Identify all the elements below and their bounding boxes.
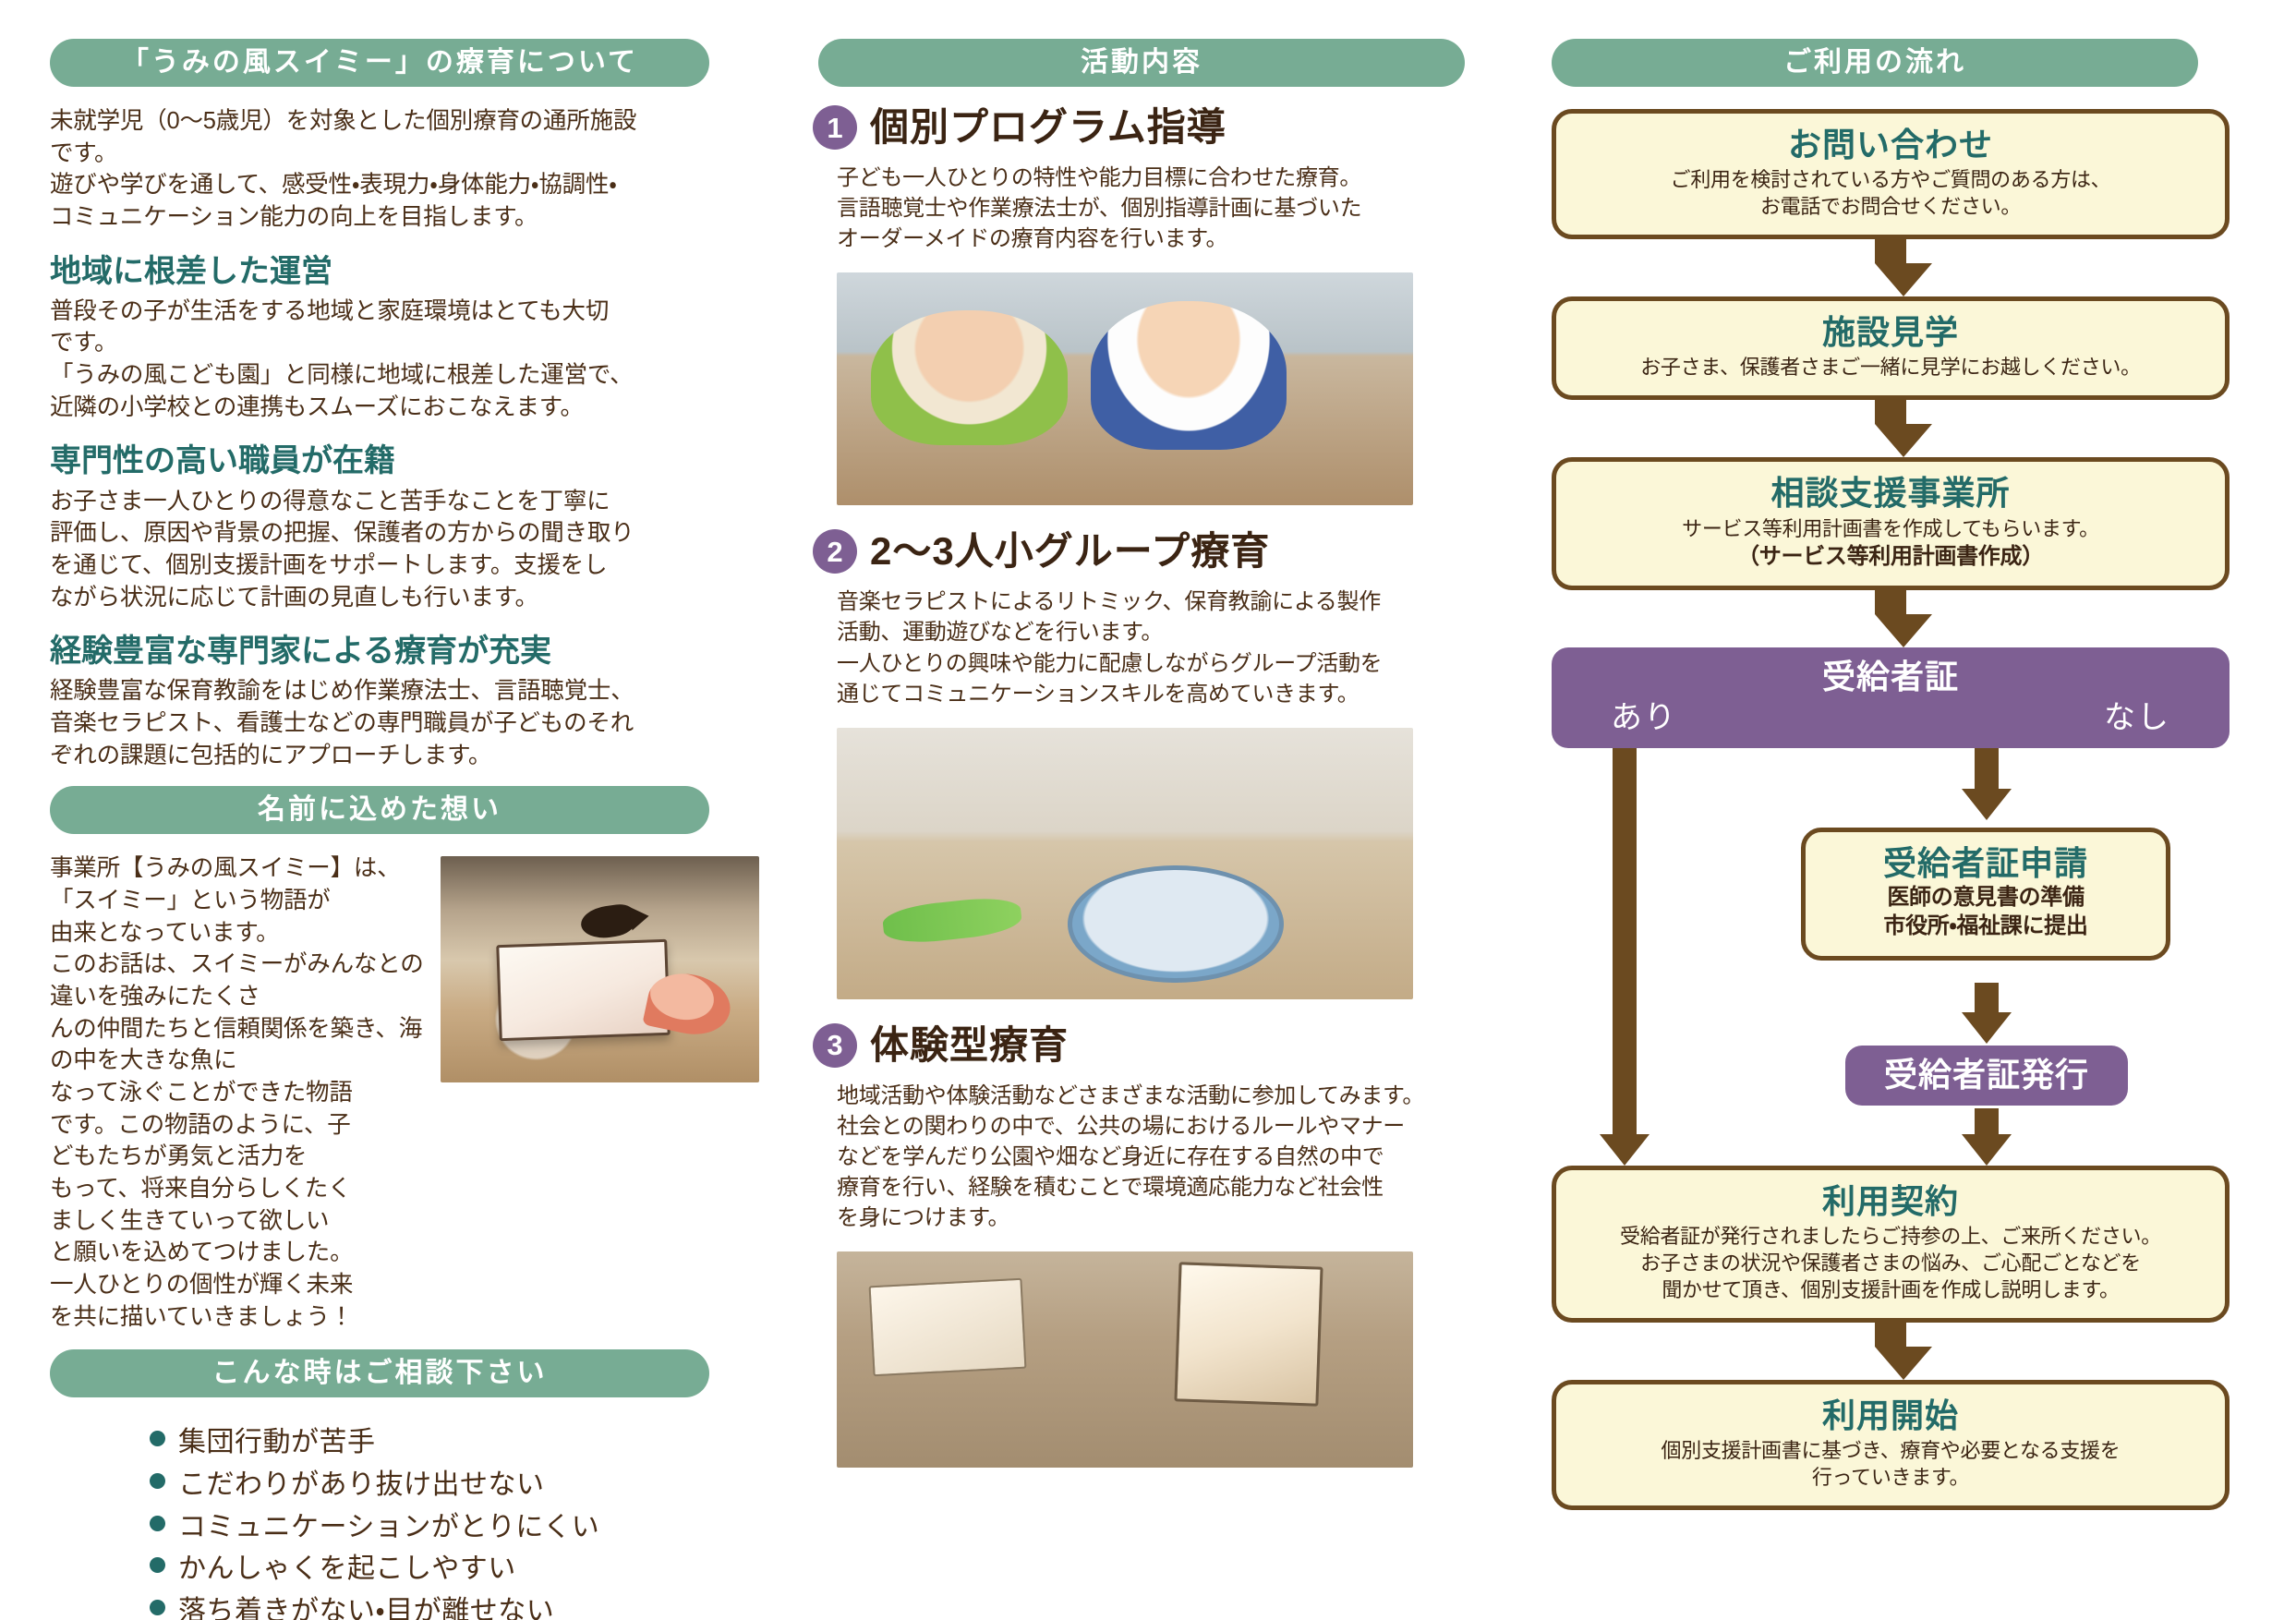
activity-title-2: 2〜3人小グループ療育 [870,531,1270,572]
body-line: 子ども一人ひとりの特性や能力目標に合わせた療育。 [837,163,1504,193]
story-line: と願いを込めてつけました。 [50,1237,759,1269]
activity-heading-3: 3 体験型療育 [813,1023,1504,1068]
body-line: お子さま、保護者さまご一緒に見学にお越しください。 [1575,354,2206,381]
body-line: 近隣の小学校との連携もスムーズにおこなえます。 [50,392,759,424]
flow-node-body: 受給者証が発行されましたらご持参の上、ご来所ください。 お子さまの状況や保護者さ… [1575,1223,2206,1303]
flow-node-body-strong: （サービス等利用計画書作成） [1575,542,2206,572]
flow-rail-issue-to-contract [1975,1108,1999,1134]
about-intro-text: 未就学児（0〜5歳児）を対象とした個別療育の通所施設 です。 遊びや学びを通して… [50,105,759,234]
activity-number-badge-3: 3 [813,1023,857,1068]
photo-rule-cards-on-desk [837,1251,1413,1468]
about-intro-line: 遊びや学びを通して、感受性・表現力・身体能力・協調性・ [50,169,759,201]
activity-body-3: 地域活動や体験活動などさまざまな活動に参加してみます。 社会との関わりの中で、公… [813,1081,1504,1234]
flow-node-inquiry: お問い合わせ ご利用を検討されている方やご質問のある方は、 お電話でお問合せくだ… [1552,109,2230,239]
body-line: お電話でお問合せください。 [1575,193,2206,220]
bullet-dot-icon [150,1557,165,1573]
about-intro-line: コミュニケーション能力の向上を目指します。 [50,201,759,234]
list-item-label: こだわりがあり抜け出せない [178,1464,545,1506]
flow-arrow-head-no-icon [1962,789,2012,820]
list-item: かんしゃくを起こしやすい [150,1548,759,1590]
body-line: 音楽セラピスト、看護士などの専門職員が子どものそれ [50,707,759,740]
middle-column: 活動内容 1 個別プログラム指導 子ども一人ひとりの特性や能力目標に合わせた療育… [779,39,1528,1620]
subsection-body-specialist-staff: お子さま一人ひとりの得意なこと苦手なことを丁寧に 評価し、原因や背景の把握、保護… [50,486,759,614]
list-item: 集団行動が苦手 [150,1421,759,1464]
photo-children-with-animal-figures [837,272,1413,505]
body-line: を身につけます。 [837,1203,1504,1233]
photo-therapy-room-trampoline [837,728,1413,999]
flow-arrow-down-icon [1875,239,1906,296]
activity-heading-1: 1 個別プログラム指導 [813,105,1504,150]
branch-label-yes: あり [1611,692,1677,737]
subsection-title-specialist-staff: 専門性の高い職員が在籍 [50,443,759,479]
photo-picture-book-display [441,856,759,1082]
flow-node-certificate-issued: 受給者証発行 [1845,1046,2128,1106]
body-line: 社会との関わりの中で、公共の場におけるルールやマナー [837,1111,1504,1142]
body-line: 「うみの風こども園」と同様に地域に根差した運営で、 [50,359,759,392]
flow-arrow-down-icon [1875,1323,1906,1380]
flow-rail-yes-branch [1613,748,1637,1134]
body-line: 音楽セラピストによるリトミック、保育教諭による製作 [837,586,1504,617]
flow-node-usage-contract: 利用契約 受給者証が発行されましたらご持参の上、ご来所ください。 お子さまの状況… [1552,1166,2230,1323]
subsection-body-local-operation: 普段その子が生活をする地域と家庭環境はとても大切 です。 「うみの風こども園」と… [50,296,759,424]
flow-node-body-strong: 医師の意見書の準備 市役所・福祉課に提出 [1824,883,2147,941]
about-intro-line: です。 [50,138,759,170]
flow-arrow-head-to-issue-icon [1962,1012,2012,1044]
body-line: 聞かせて頂き、個別支援計画を作成し説明します。 [1575,1276,2206,1303]
flow-node-title: 施設見学 [1575,312,2206,352]
activity-title-1: 個別プログラム指導 [870,107,1227,148]
about-intro-line: 未就学児（0〜5歳児）を対象とした個別療育の通所施設 [50,105,759,138]
flow-node-body: 個別支援計画書に基づき、療育や必要となる支援を 行っていきます。 [1575,1437,2206,1491]
body-line: です。 [50,327,759,359]
body-line: 一人ひとりの興味や能力に配慮しながらグループ活動を [837,648,1504,679]
left-column: 「うみの風スイミー」の療育について 未就学児（0〜5歳児）を対象とした個別療育の… [50,39,779,1620]
list-item-label: 落ち着きがない・目が離せない [178,1590,554,1620]
story-line: 一人ひとりの個性が輝く未来 [50,1269,759,1301]
flow-arrow-down-icon [1875,400,1906,457]
spacer [50,771,759,786]
flow-node-body: お子さま、保護者さまご一緒に見学にお越しください。 [1575,354,2206,381]
flow-node-title: 利用契約 [1575,1181,2206,1221]
decision-branch-labels: あり なし [1568,692,2213,737]
section-header-about: 「うみの風スイミー」の療育について [50,39,709,87]
list-item: コミュニケーションがとりにくい [150,1506,759,1549]
flow-node-certificate-application: 受給者証申請 医師の意見書の準備 市役所・福祉課に提出 [1801,828,2170,961]
activity-heading-2: 2 2〜3人小グループ療育 [813,529,1504,574]
flow-node-title: 相談支援事業所 [1575,473,2206,513]
flow-node-body: サービス等利用計画書を作成してもらいます。 [1575,515,2206,542]
flow-node-facility-tour: 施設見学 お子さま、保護者さまご一緒に見学にお越しください。 [1552,296,2230,400]
body-line: 行っていきます。 [1575,1464,2206,1491]
subsection-title-local-operation: 地域に根差した運営 [50,254,759,290]
flow-branch-region: 受給者証申請 医師の意見書の準備 市役所・福祉課に提出 受給者証発行 [1552,748,2230,1166]
activity-body-2: 音楽セラピストによるリトミック、保育教諭による製作 活動、運動遊びなどを行います… [813,586,1504,708]
list-item: 落ち着きがない・目が離せない [150,1590,759,1620]
section-header-name-meaning: 名前に込めた想い [50,786,709,834]
flow-node-title: 利用開始 [1575,1396,2206,1435]
body-line: 地域活動や体験活動などさまざまな活動に参加してみます。 [837,1081,1504,1111]
section-header-activities: 活動内容 [818,39,1465,87]
body-line: 個別支援計画書に基づき、療育や必要となる支援を [1575,1437,2206,1464]
activity-number-badge-2: 2 [813,529,857,574]
story-line: どもたちが勇気と活力を [50,1141,759,1173]
body-line: 医師の意見書の準備 [1824,883,2147,913]
name-story: 事業所【うみの風スイミー】は、「スイミー」という物語が 由来となっています。 こ… [50,852,759,1333]
body-line: ご利用を検討されている方やご質問のある方は、 [1575,166,2206,193]
body-line: ながら状況に応じて計画の見直しも行います。 [50,582,759,614]
flow-node-usage-start: 利用開始 個別支援計画書に基づき、療育や必要となる支援を 行っていきます。 [1552,1380,2230,1510]
brochure-page: 「うみの風スイミー」の療育について 未就学児（0〜5歳児）を対象とした個別療育の… [0,0,2296,1620]
body-line: 普段その子が生活をする地域と家庭環境はとても大切 [50,296,759,328]
body-line: ぞれの課題に包括的にアプローチします。 [50,740,759,772]
right-column: ご利用の流れ お問い合わせ ご利用を検討されている方やご質問のある方は、 お電話… [1528,39,2230,1620]
body-line: 経験豊富な保育教諭をはじめ作業療法士、言語聴覚士、 [50,675,759,707]
spacer [50,1333,759,1349]
flow-node-title: 受給者証申請 [1824,843,2147,883]
story-line: もって、将来自分らしくたく [50,1173,759,1205]
flow-node-consultation-office: 相談支援事業所 サービス等利用計画書を作成してもらいます。 （サービス等利用計画… [1552,457,2230,590]
body-line: オーダーメイドの療育内容を行います。 [837,224,1504,254]
section-header-consult-when: こんな時はご相談下さい [50,1349,709,1397]
flow-arrow-head-to-contract-icon [1962,1134,2012,1166]
body-line: お子さまの状況や保護者さまの悩み、ご心配ごとなどを [1575,1250,2206,1276]
story-line: ましく生きていって欲しい [50,1205,759,1238]
list-item-label: 集団行動が苦手 [178,1421,376,1464]
body-line: 通じてコミュニケーションスキルを高めていきます。 [837,679,1504,709]
flow-node-title: お問い合わせ [1575,125,2206,164]
list-item-label: かんしゃくを起こしやすい [178,1548,516,1590]
consult-bullet-list: 集団行動が苦手 こだわりがあり抜け出せない コミュニケーションがとりにくい かん… [50,1421,759,1620]
story-line: を共に描いていきましょう！ [50,1301,759,1334]
flow-rail-no-branch [1975,748,1999,789]
story-line: です。この物語のように、子 [50,1109,759,1142]
bullet-dot-icon [150,1516,165,1531]
subsection-title-experienced-experts: 経験豊富な専門家による療育が充実 [50,634,759,670]
body-line: 活動、運動遊びなどを行います。 [837,617,1504,647]
flow-node-certificate-decision: 受給者証 あり なし [1552,647,2230,747]
flow-arrow-head-yes-icon [1600,1134,1649,1166]
bullet-dot-icon [150,1473,165,1489]
body-line: サービス等利用計画書を作成してもらいます。 [1575,515,2206,542]
body-line: を通じて、個別支援計画をサポートします。支援をし [50,550,759,582]
bullet-dot-icon [150,1600,165,1615]
body-line: 市役所・福祉課に提出 [1824,912,2147,941]
list-item: こだわりがあり抜け出せない [150,1464,759,1506]
body-line: 評価し、原因や背景の把握、保護者の方からの聞き取り [50,517,759,550]
activity-number-badge-1: 1 [813,105,857,150]
body-line: 療育を行い、経験を積むことで環境適応能力など社会性 [837,1172,1504,1203]
flow-rail-to-issue [1975,983,1999,1012]
body-line: 受給者証が発行されましたらご持参の上、ご来所ください。 [1575,1223,2206,1250]
flow-node-body: ご利用を検討されている方やご質問のある方は、 お電話でお問合せください。 [1575,166,2206,220]
activity-body-1: 子ども一人ひとりの特性や能力目標に合わせた療育。 言語聴覚士や作業療法士が、個別… [813,163,1504,254]
list-item-label: コミュニケーションがとりにくい [178,1506,599,1549]
flow-arrow-down-icon [1875,590,1906,647]
flow-node-title: 受給者証発行 [1862,1055,2111,1094]
activity-title-3: 体験型療育 [870,1025,1069,1066]
section-header-usage-flow: ご利用の流れ [1552,39,2198,87]
subsection-body-experienced-experts: 経験豊富な保育教諭をはじめ作業療法士、言語聴覚士、 音楽セラピスト、看護士などの… [50,675,759,771]
body-line: などを学んだり公園や畑など身近に存在する自然の中で [837,1142,1504,1172]
fish-silhouette-icon [579,902,636,941]
body-line: お子さま一人ひとりの得意なこと苦手なことを丁寧に [50,486,759,518]
usage-flow-diagram: お問い合わせ ご利用を検討されている方やご質問のある方は、 お電話でお問合せくだ… [1552,105,2230,1510]
body-line: 言語聴覚士や作業療法士が、個別指導計画に基づいた [837,193,1504,224]
branch-label-no: なし [2104,692,2170,737]
bullet-dot-icon [150,1431,165,1446]
